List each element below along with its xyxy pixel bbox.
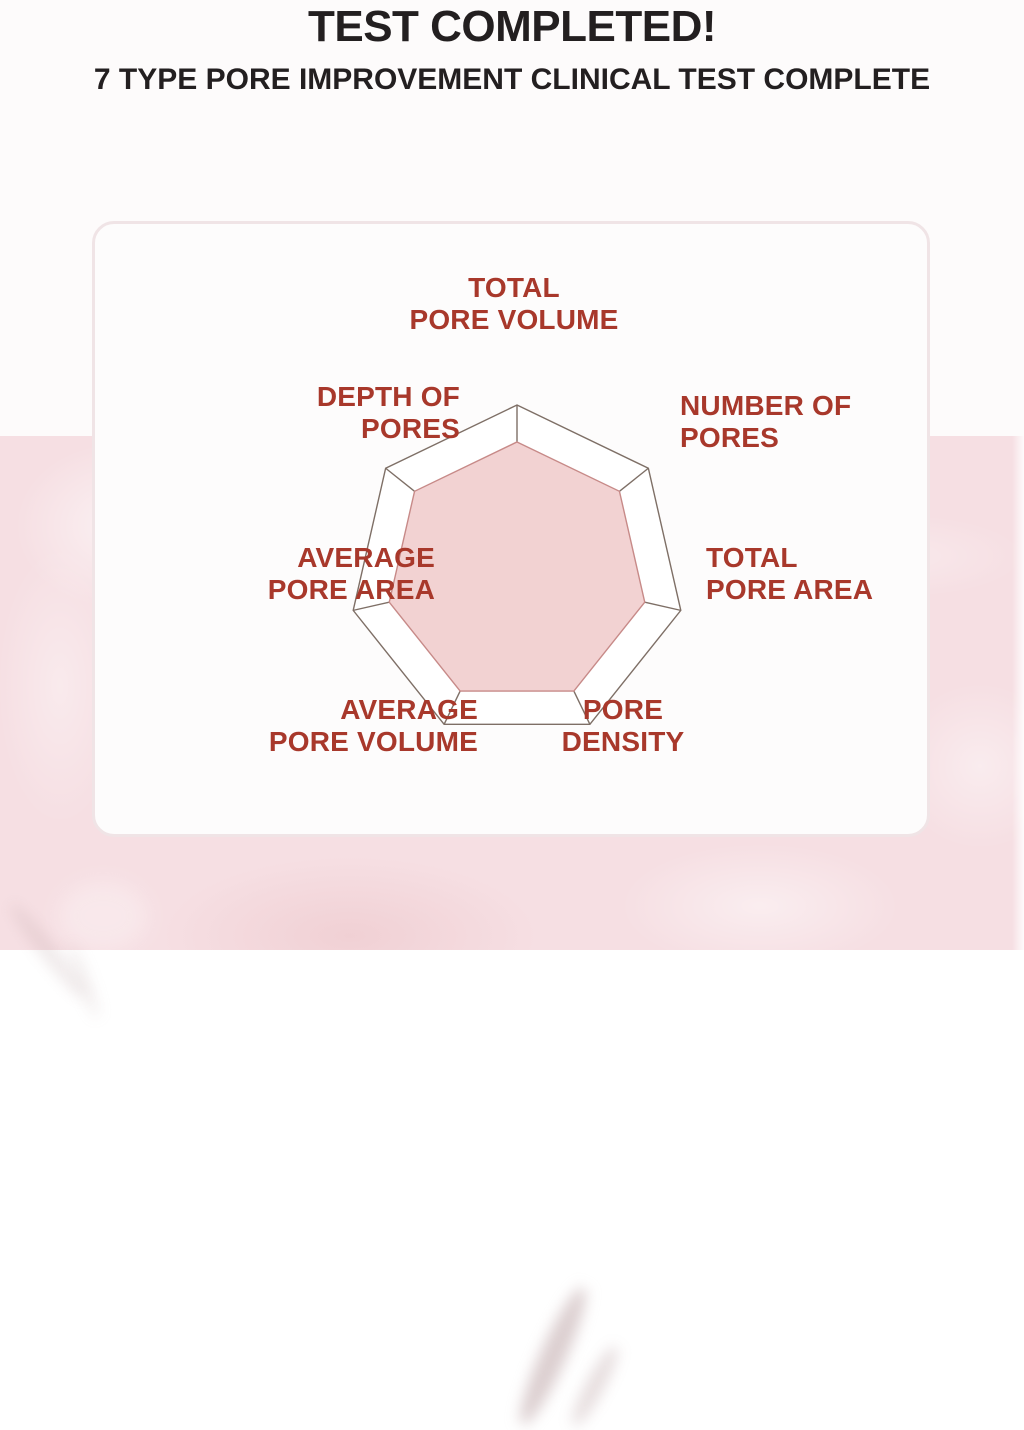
axis-label-line-1: DEPTH OF bbox=[317, 381, 460, 412]
axis-label-average-pore-volume: AVERAGE PORE VOLUME bbox=[269, 694, 478, 759]
axis-label-line-1: PORE bbox=[583, 694, 663, 725]
axis-label-line-2: PORE VOLUME bbox=[409, 304, 618, 336]
chart-card: TOTAL PORE VOLUME NUMBER OF PORES TOTAL … bbox=[92, 221, 930, 837]
axis-label-total-pore-area: TOTAL PORE AREA bbox=[706, 542, 873, 607]
axis-label-line-1: NUMBER OF bbox=[680, 390, 851, 421]
axis-label-line-2: PORES bbox=[680, 422, 851, 454]
axis-label-line-2: PORES bbox=[317, 413, 460, 445]
radar-chart: TOTAL PORE VOLUME NUMBER OF PORES TOTAL … bbox=[95, 224, 933, 840]
axis-label-line-1: AVERAGE bbox=[297, 542, 435, 573]
axis-label-depth-of-pores: DEPTH OF PORES bbox=[317, 381, 460, 446]
axis-label-line-2: PORE VOLUME bbox=[269, 726, 478, 758]
axis-label-line-2: PORE AREA bbox=[268, 574, 435, 606]
axis-label-pore-density: PORE DENSITY bbox=[562, 694, 685, 759]
axis-label-line-1: TOTAL bbox=[468, 272, 560, 303]
axis-label-average-pore-area: AVERAGE PORE AREA bbox=[268, 542, 435, 607]
axis-label-line-1: TOTAL bbox=[706, 542, 798, 573]
marble-highlight bbox=[905, 1318, 985, 1368]
axis-label-total-pore-volume: TOTAL PORE VOLUME bbox=[409, 272, 618, 337]
marble-highlight bbox=[975, 1286, 1024, 1346]
axis-label-line-2: PORE AREA bbox=[706, 574, 873, 606]
marble-highlight bbox=[845, 1296, 891, 1336]
marble-highlight bbox=[58, 881, 148, 951]
axis-label-line-2: DENSITY bbox=[562, 726, 685, 758]
page-subtitle: 7 TYPE PORE IMPROVEMENT CLINICAL TEST CO… bbox=[0, 50, 1024, 96]
page-header: TEST COMPLETED! 7 TYPE PORE IMPROVEMENT … bbox=[0, 0, 1024, 96]
marble-highlight bbox=[720, 1311, 778, 1375]
page-title: TEST COMPLETED! bbox=[0, 0, 1024, 50]
background-right-edge-fade bbox=[1012, 436, 1024, 950]
axis-label-line-1: AVERAGE bbox=[340, 694, 478, 725]
axis-label-number-of-pores: NUMBER OF PORES bbox=[680, 390, 851, 455]
marble-vein bbox=[566, 1342, 624, 1430]
